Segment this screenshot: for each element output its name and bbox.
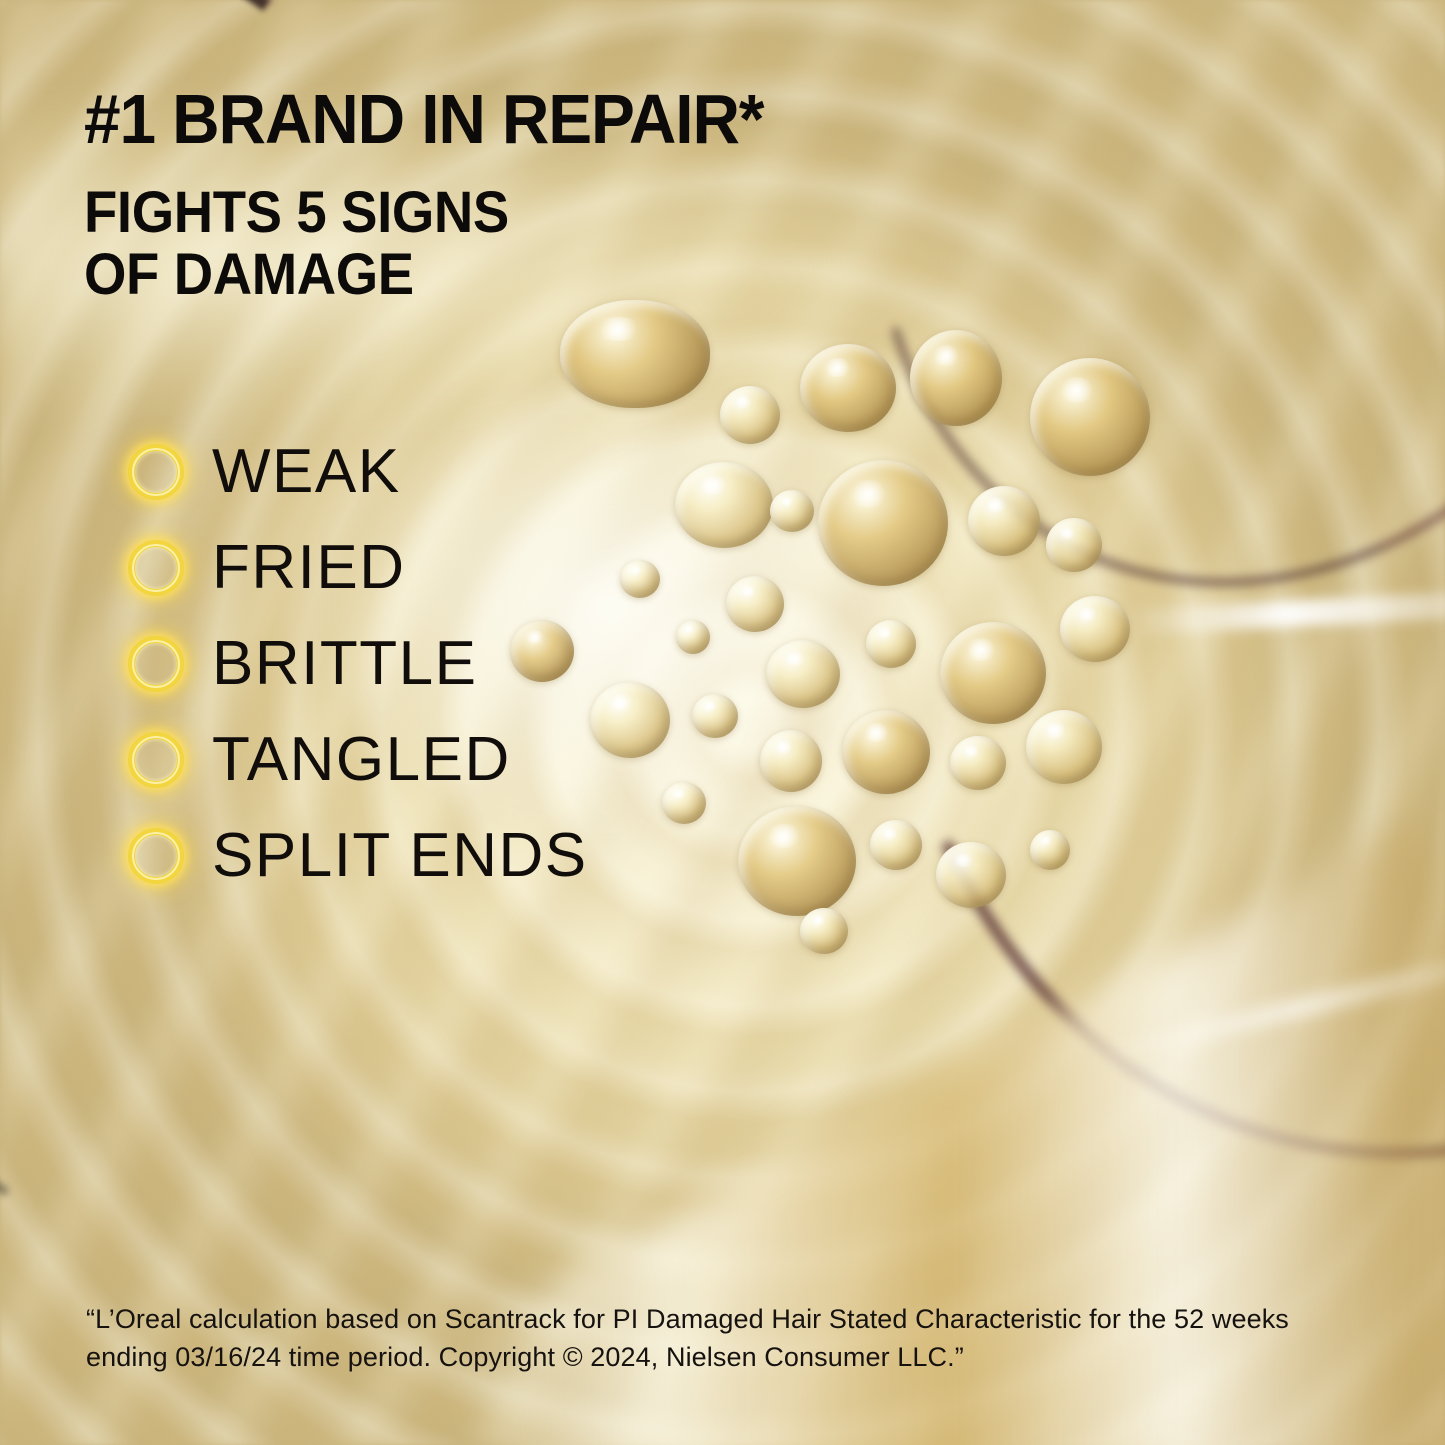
- subheadline-line-2: OF DAMAGE: [84, 244, 763, 306]
- list-item: TANGLED: [128, 712, 588, 808]
- list-item: BRITTLE: [128, 616, 588, 712]
- gold-ring-icon: [128, 444, 184, 500]
- gold-ring-icon: [128, 732, 184, 788]
- damage-sign-label: TANGLED: [212, 729, 511, 791]
- headline-block: #1 BRAND IN REPAIR* FIGHTS 5 SIGNS OF DA…: [84, 82, 807, 306]
- damage-signs-list: WEAK FRIED BRITTLE TANGLED SPLIT ENDS: [128, 424, 588, 904]
- list-item: SPLIT ENDS: [128, 808, 588, 904]
- legal-footnote: “L’Oreal calculation based on Scantrack …: [86, 1300, 1356, 1376]
- page-title: #1 BRAND IN REPAIR*: [84, 82, 763, 156]
- gold-ring-icon: [128, 636, 184, 692]
- list-item: FRIED: [128, 520, 588, 616]
- gold-ring-icon: [128, 828, 184, 884]
- product-claim-banner: #1 BRAND IN REPAIR* FIGHTS 5 SIGNS OF DA…: [0, 0, 1445, 1445]
- damage-sign-label: FRIED: [212, 537, 406, 599]
- damage-sign-label: SPLIT ENDS: [212, 825, 588, 887]
- subheadline: FIGHTS 5 SIGNS OF DAMAGE: [84, 182, 763, 306]
- subheadline-line-1: FIGHTS 5 SIGNS: [84, 182, 763, 244]
- gold-ring-icon: [128, 540, 184, 596]
- damage-sign-label: WEAK: [212, 441, 401, 503]
- list-item: WEAK: [128, 424, 588, 520]
- damage-sign-label: BRITTLE: [212, 633, 477, 695]
